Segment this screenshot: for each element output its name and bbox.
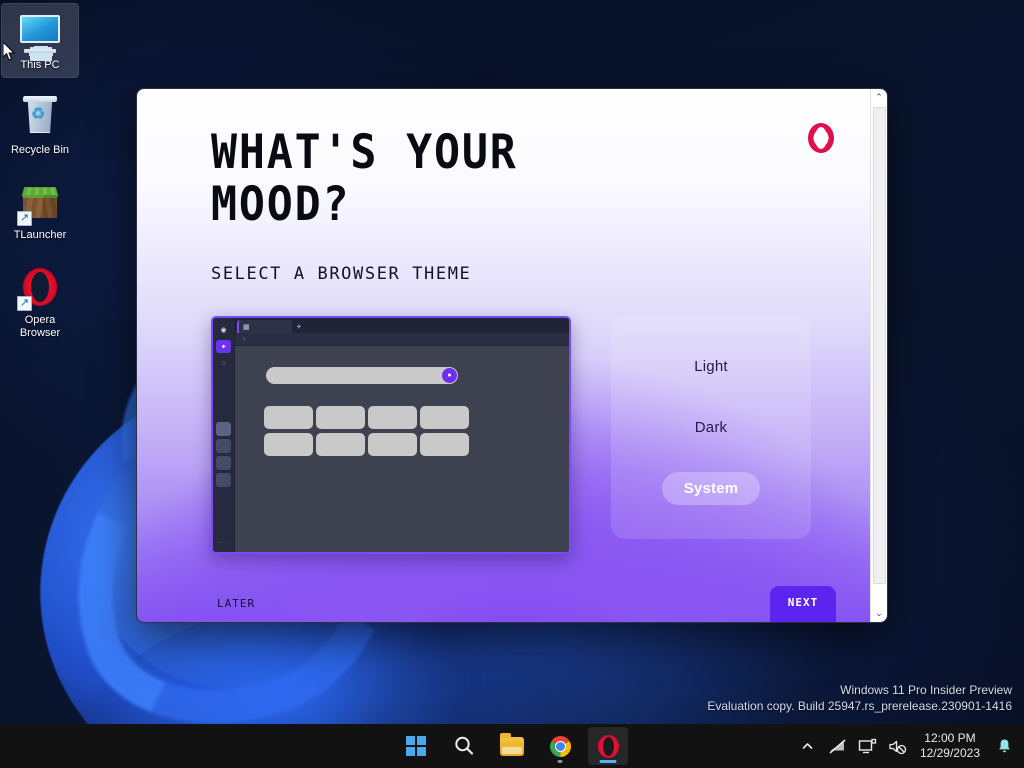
preview-speed-dial-tile <box>420 433 469 456</box>
notification-bell-icon[interactable] <box>990 730 1018 762</box>
folder-icon <box>500 737 524 756</box>
opera-icon <box>598 735 619 758</box>
chrome-icon <box>550 736 571 757</box>
preview-speed-dial-tile <box>420 406 469 429</box>
windows-watermark: Windows 11 Pro Insider Preview Evaluatio… <box>707 682 1012 714</box>
preview-main: ▦ + › ● <box>235 318 569 552</box>
preview-circle-icon: ○ <box>216 357 231 370</box>
windows-logo-icon <box>406 736 426 756</box>
shortcut-arrow-icon: ↗ <box>17 211 32 226</box>
tray-time: 12:00 PM <box>920 731 980 746</box>
preview-speed-dial-tile <box>368 433 417 456</box>
preview-tab: ▦ <box>237 320 292 333</box>
opera-logo-icon <box>808 123 834 153</box>
desktop-icon-opera-browser[interactable]: ↗ Opera Browser <box>2 259 78 345</box>
preview-address-bar: › <box>235 333 569 346</box>
search-icon <box>453 735 475 757</box>
window-scrollbar[interactable]: ⌃ ⌄ <box>870 89 887 622</box>
desktop-icon-this-pc[interactable]: This PC <box>2 4 78 77</box>
search-button[interactable] <box>444 727 484 765</box>
theme-selector-card: Light Dark System <box>611 316 811 539</box>
preview-sidebar: ◉ ✦ ○ ··· <box>213 318 235 552</box>
desktop-icon-column: This PC ♻ Recycle Bin ↗ TLauncher ↗ <box>2 4 78 357</box>
watermark-line-2: Evaluation copy. Build 25947.rs_prerelea… <box>707 698 1012 714</box>
this-pc-icon <box>16 10 64 56</box>
opera-browser-icon: ↗ <box>16 265 64 311</box>
desktop[interactable]: This PC ♻ Recycle Bin ↗ TLauncher ↗ <box>0 0 1024 768</box>
theme-option-light[interactable]: Light <box>672 350 750 383</box>
opera-button[interactable] <box>588 727 628 765</box>
scrollbar-down-arrow-icon[interactable]: ⌄ <box>871 605 888 622</box>
active-indicator <box>600 760 617 763</box>
display-icon[interactable] <box>854 730 882 762</box>
preview-new-tab-icon: + <box>294 321 304 331</box>
preview-sidebar-tiles <box>216 422 231 487</box>
preview-active-panel-icon: ✦ <box>216 340 231 353</box>
scrollbar-up-arrow-icon[interactable]: ⌃ <box>871 89 888 106</box>
browser-theme-preview: ◉ ✦ ○ ··· ▦ + <box>211 316 571 554</box>
tray-chevron-up-icon[interactable] <box>794 730 822 762</box>
next-button[interactable]: NEXT <box>770 586 836 622</box>
clock[interactable]: 12:00 PM 12/29/2023 <box>914 731 988 761</box>
opera-browser-window[interactable]: WHAT'S YOUR MOOD? SELECT A BROWSER THEME… <box>136 88 888 623</box>
preview-tab-bar: ▦ + <box>235 318 569 333</box>
tlauncher-icon: ↗ <box>16 180 64 226</box>
desktop-icon-recycle-bin[interactable]: ♻ Recycle Bin <box>2 89 78 162</box>
preview-search-field: ● <box>266 367 458 384</box>
preview-speed-dial-grid <box>264 406 474 456</box>
preview-sidebar-more-icon: ··· <box>218 538 229 547</box>
scrollbar-track[interactable] <box>871 106 888 605</box>
taskbar[interactable]: 12:00 PM 12/29/2023 <box>0 724 1024 768</box>
page-title-line2: MOOD? <box>211 179 726 231</box>
theme-option-system[interactable]: System <box>662 472 761 505</box>
later-button[interactable]: LATER <box>217 597 255 610</box>
theme-option-dark[interactable]: Dark <box>673 411 749 444</box>
system-tray: 12:00 PM 12/29/2023 <box>794 724 1018 768</box>
desktop-icon-label: Opera Browser <box>4 314 76 340</box>
preview-speed-dial-tile <box>264 406 313 429</box>
desktop-icon-label: Recycle Bin <box>4 144 76 157</box>
network-disconnected-icon[interactable] <box>824 730 852 762</box>
preview-speed-dial-tile <box>368 406 417 429</box>
preview-speed-dial-tile <box>264 433 313 456</box>
page-title: WHAT'S YOUR MOOD? <box>211 127 726 231</box>
preview-sidebar-tile <box>216 439 231 453</box>
scrollbar-thumb[interactable] <box>873 107 886 584</box>
desktop-icon-tlauncher[interactable]: ↗ TLauncher <box>2 174 78 247</box>
tray-date: 12/29/2023 <box>920 746 980 761</box>
preview-sidebar-tile <box>216 456 231 470</box>
preview-sidebar-tile <box>216 473 231 487</box>
watermark-line-1: Windows 11 Pro Insider Preview <box>707 682 1012 698</box>
taskbar-buttons <box>396 727 628 765</box>
onboarding-panel: WHAT'S YOUR MOOD? SELECT A BROWSER THEME… <box>137 89 870 622</box>
desktop-icon-label: This PC <box>4 59 76 72</box>
shortcut-arrow-icon: ↗ <box>17 296 32 311</box>
page-title-line1: WHAT'S YOUR <box>211 127 726 179</box>
preview-opera-menu-icon: ◉ <box>216 323 231 336</box>
file-explorer-button[interactable] <box>492 727 532 765</box>
volume-muted-icon[interactable] <box>884 730 912 762</box>
preview-speed-dial-tile <box>316 406 365 429</box>
preview-canvas: ● <box>235 346 569 552</box>
preview-sidebar-tile <box>216 422 231 436</box>
recycle-bin-icon: ♻ <box>16 95 64 141</box>
desktop-icon-label: TLauncher <box>4 229 76 242</box>
running-indicator <box>558 760 563 763</box>
preview-search-icon: ● <box>442 368 457 383</box>
chrome-button[interactable] <box>540 727 580 765</box>
start-button[interactable] <box>396 727 436 765</box>
page-subtitle: SELECT A BROWSER THEME <box>211 264 471 284</box>
preview-speed-dial-tile <box>316 433 365 456</box>
